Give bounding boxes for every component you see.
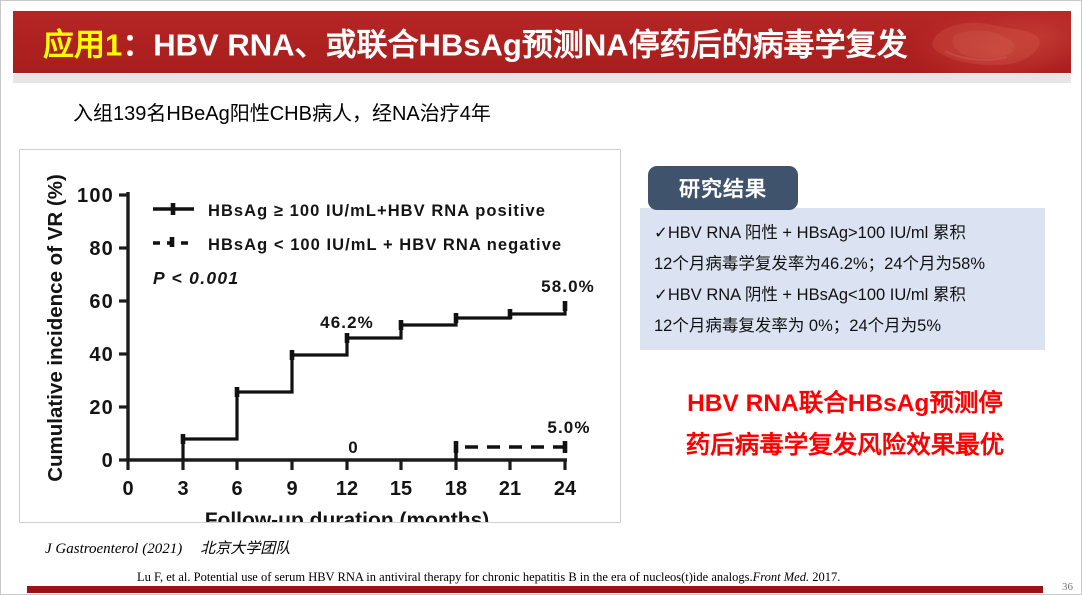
- result-line-3: ✓HBV RNA 阴性 + HBsAg<100 IU/ml 累积: [654, 280, 1031, 311]
- slide-title-bar: 应用1：HBV RNA、或联合HBsAg预测NA停药后的病毒学复发: [13, 11, 1071, 73]
- title-underbar-divider: [13, 74, 1071, 83]
- chart-svg: 0 20 40 60 80 100 0: [20, 150, 620, 522]
- series-positive-censor-marks: [183, 301, 565, 444]
- page-title: 应用1：HBV RNA、或联合HBsAg预测NA停药后的病毒学复发: [43, 20, 908, 65]
- x-tick-21: 21: [499, 478, 521, 500]
- x-tick-9: 9: [286, 478, 297, 500]
- y-tick-80: 80: [89, 238, 114, 260]
- conclusion-line-1: HBV RNA联合HBsAg预测停: [645, 383, 1045, 425]
- chart-pvalue: P < 0.001: [153, 268, 239, 288]
- x-axis-tick-labels: 0 3 6 9 12 15 18 21 24: [122, 478, 577, 500]
- reference-year: 2017.: [812, 570, 840, 584]
- series-positive-step-line: [183, 306, 565, 460]
- source-journal: J Gastroenterol (2021): [45, 541, 182, 557]
- x-tick-6: 6: [231, 478, 242, 500]
- series-negative-step-line: [456, 447, 565, 460]
- chart-legend: HBsAg ≥ 100 IU/mL+HBV RNA positive HBsAg…: [153, 202, 562, 254]
- x-tick-3: 3: [177, 478, 188, 500]
- reference-citation: Lu F, et al. Potential use of serum HBV …: [137, 570, 840, 585]
- liver-illustration-icon: [925, 15, 1045, 71]
- data-label-0: 0: [348, 438, 357, 457]
- result-line-2: 12个月病毒学复发率为46.2%；24个月为58%: [654, 249, 1031, 280]
- x-tick-18: 18: [445, 478, 467, 500]
- legend-label-negative: HBsAg < 100 IU/mL + HBV RNA negative: [208, 236, 562, 254]
- data-label-58-0: 58.0%: [541, 277, 595, 296]
- kaplan-meier-chart: 0 20 40 60 80 100 0: [19, 149, 621, 523]
- conclusion-text: HBV RNA联合HBsAg预测停 药后病毒学复发风险效果最优: [645, 383, 1045, 467]
- x-axis-title: Follow-up duration (months): [205, 509, 490, 522]
- legend-key-solid: [153, 203, 194, 215]
- results-badge: 研究结果: [648, 166, 798, 210]
- data-label-46-2: 46.2%: [320, 313, 374, 332]
- page-number: 36: [1062, 581, 1073, 593]
- results-panel: ✓HBV RNA 阳性 + HBsAg>100 IU/ml 累积 12个月病毒学…: [640, 208, 1045, 350]
- y-tick-60: 60: [89, 291, 114, 313]
- y-tick-40: 40: [89, 344, 114, 366]
- results-badge-label: 研究结果: [679, 173, 767, 203]
- result-line-1: ✓HBV RNA 阳性 + HBsAg>100 IU/ml 累积: [654, 218, 1031, 249]
- bottom-accent-bar: [27, 586, 1043, 593]
- data-label-5-0: 5.0%: [547, 418, 590, 437]
- x-tick-0: 0: [122, 478, 133, 500]
- reference-journal: Front Med.: [753, 570, 809, 584]
- x-tick-12: 12: [336, 478, 358, 500]
- source-citation: J Gastroenterol (2021)北京大学团队: [45, 537, 290, 558]
- reference-text: Lu F, et al. Potential use of serum HBV …: [137, 570, 753, 584]
- y-tick-0: 0: [102, 450, 114, 472]
- y-tick-100: 100: [77, 185, 114, 207]
- x-tick-15: 15: [390, 478, 412, 500]
- title-main-text: ：HBV RNA、或联合HBsAg预测NA停药后的病毒学复发: [122, 28, 907, 63]
- slide-canvas: 应用1：HBV RNA、或联合HBsAg预测NA停药后的病毒学复发 入组139名…: [0, 0, 1082, 595]
- conclusion-line-2: 药后病毒学复发风险效果最优: [645, 425, 1045, 467]
- y-tick-20: 20: [89, 397, 114, 419]
- x-tick-24: 24: [554, 478, 577, 500]
- source-group: 北京大学团队: [200, 541, 290, 557]
- legend-label-positive: HBsAg ≥ 100 IU/mL+HBV RNA positive: [208, 202, 546, 220]
- title-accent-text: 应用1: [43, 28, 122, 63]
- result-line-4: 12个月病毒复发率为 0%；24个月为5%: [654, 311, 1031, 342]
- y-axis-tick-labels: 0 20 40 60 80 100: [77, 185, 114, 472]
- study-subtitle: 入组139名HBeAg阳性CHB病人，经NA治疗4年: [73, 97, 491, 126]
- y-axis-title: Cumulative incidence of VR (%): [44, 174, 67, 482]
- legend-key-dashed: [153, 237, 195, 247]
